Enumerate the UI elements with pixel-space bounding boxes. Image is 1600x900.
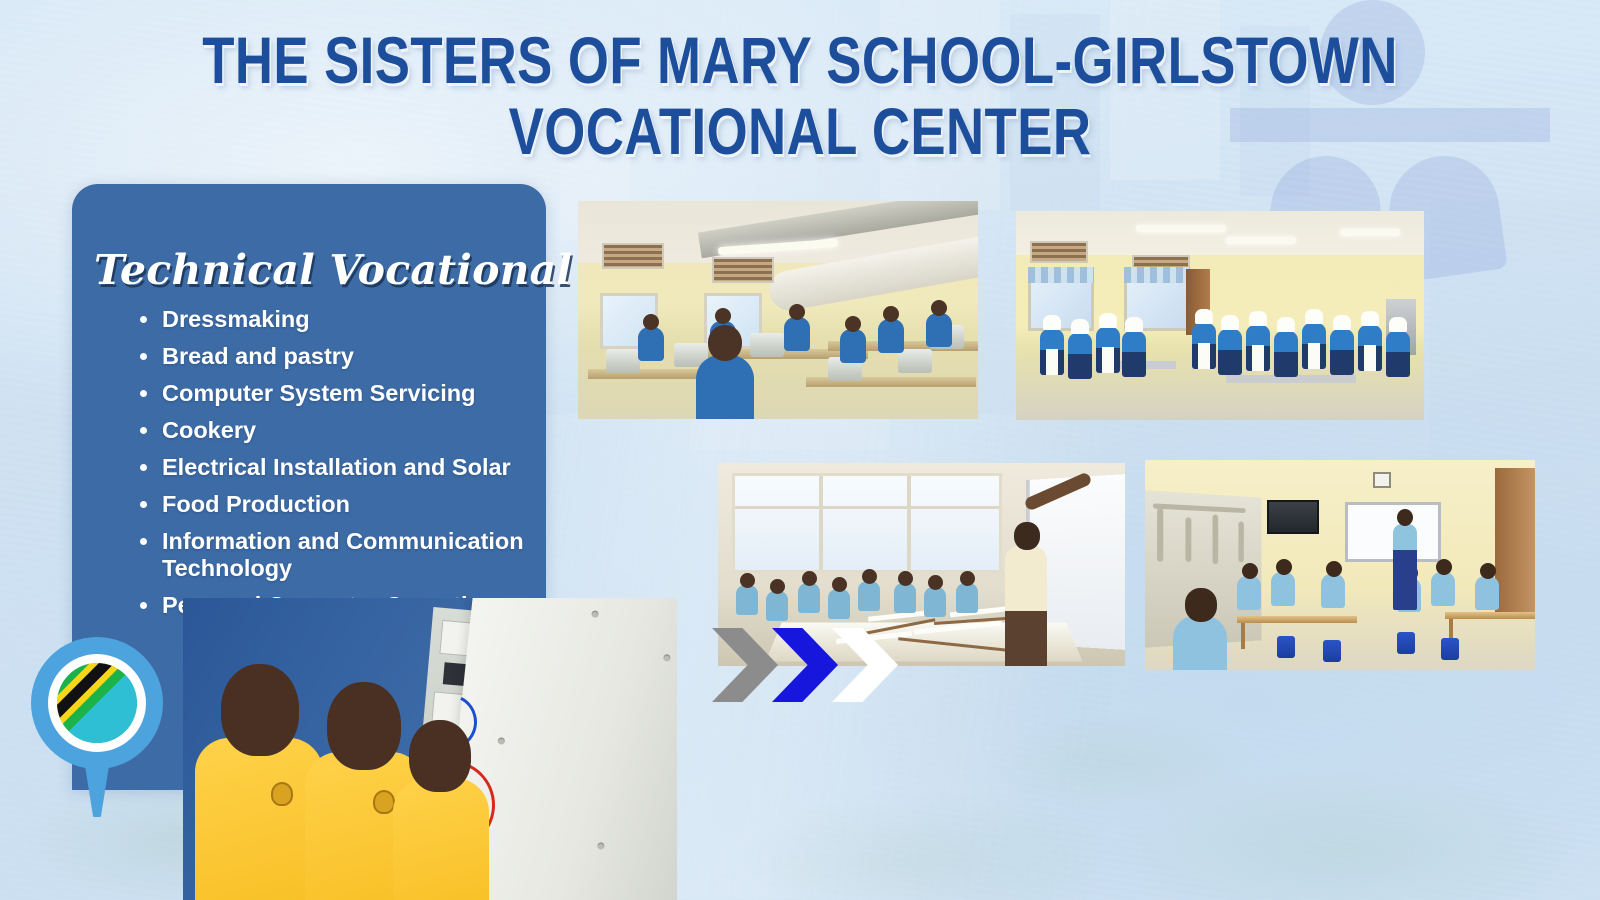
title-line-2: VOCATIONAL CENTER — [160, 99, 1440, 164]
photo-bakery-cookery-kitchen — [1016, 211, 1424, 420]
title-line-1: THE SISTERS OF MARY SCHOOL-GIRLSTOWN — [160, 28, 1440, 93]
slide-canvas: THE SISTERS OF MARY SCHOOL-GIRLSTOWN VOC… — [0, 0, 1600, 900]
photo-dressmaking-sewing-workshop — [578, 201, 978, 419]
list-item: Bread and pastry — [132, 343, 532, 370]
list-item: Cookery — [132, 417, 532, 444]
list-item: Food Production — [132, 491, 532, 518]
programs-list: Dressmaking Bread and pastry Computer Sy… — [132, 306, 532, 629]
list-item: Information and Communication Technology — [132, 528, 532, 583]
slide-title: THE SISTERS OF MARY SCHOOL-GIRLSTOWN VOC… — [0, 28, 1600, 163]
photo-electrical-installation-classroom — [1145, 460, 1535, 670]
list-item: Electrical Installation and Solar — [132, 454, 532, 481]
tanzania-flag-map-pin-icon — [31, 637, 163, 817]
programs-panel-heading: Technical Vocational Programs — [94, 246, 534, 294]
photo-drafting-classroom — [718, 463, 1125, 666]
list-item: Dressmaking — [132, 306, 532, 333]
photo-electrical-panel-wiring-foreground — [183, 598, 677, 900]
list-item: Computer System Servicing — [132, 380, 532, 407]
